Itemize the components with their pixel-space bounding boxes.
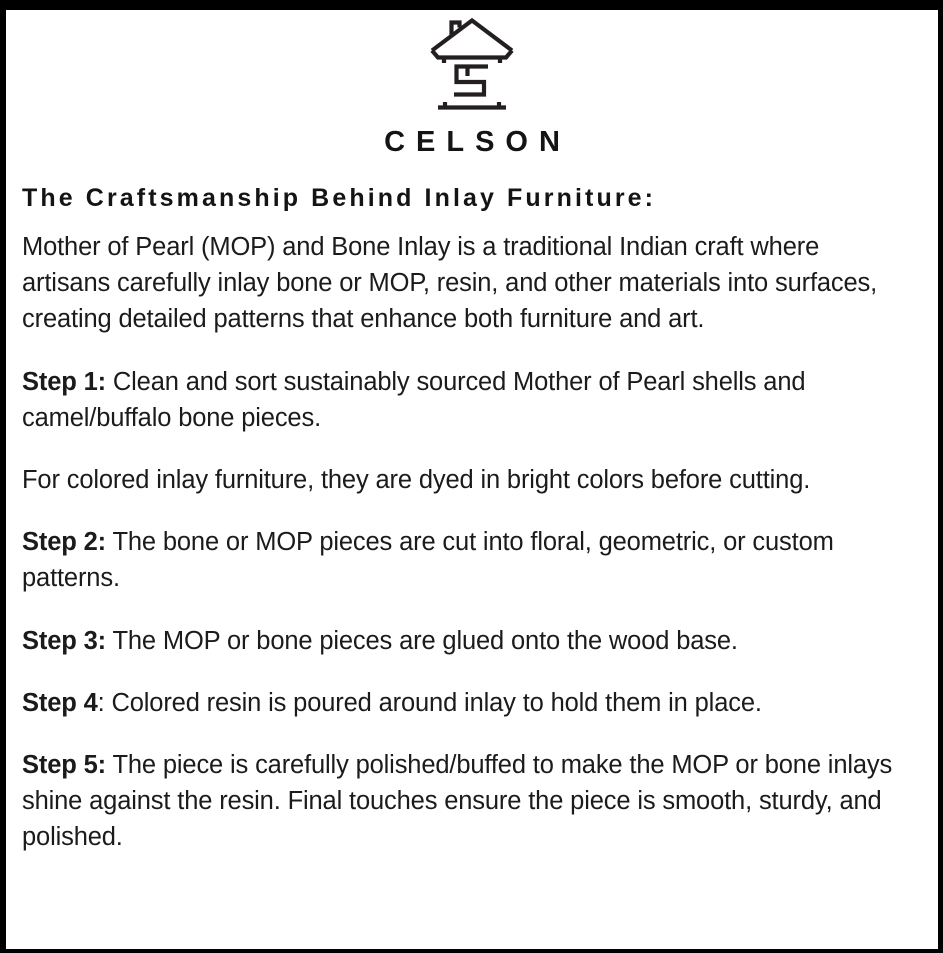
step-5-label: Step 5: xyxy=(22,751,106,779)
step-4-paragraph: Step 4: Colored resin is poured around i… xyxy=(22,685,912,721)
step-4-text: Colored resin is poured around inlay to … xyxy=(105,689,762,717)
step-2-label: Step 2: xyxy=(22,528,106,556)
step-1-text: Clean and sort sustainably sourced Mothe… xyxy=(22,368,805,432)
page-title: The Craftsmanship Behind Inlay Furniture… xyxy=(22,183,928,213)
step-1-paragraph: Step 1: Clean and sort sustainably sourc… xyxy=(22,364,912,436)
poster-content: CELSON The Craftsmanship Behind Inlay Fu… xyxy=(6,10,938,949)
step-1-label: Step 1: xyxy=(22,368,106,396)
step-2-paragraph: Step 2: The bone or MOP pieces are cut i… xyxy=(22,524,912,596)
step-4-separator: : xyxy=(98,689,105,717)
step-3-label: Step 3: xyxy=(22,627,106,655)
poster-frame: CELSON The Craftsmanship Behind Inlay Fu… xyxy=(0,0,943,953)
step-3-paragraph: Step 3: The MOP or bone pieces are glued… xyxy=(22,623,912,659)
step-5-text: The piece is carefully polished/buffed t… xyxy=(22,751,892,851)
colored-inlay-text: For colored inlay furniture, they are dy… xyxy=(22,466,810,494)
step-3-text: The MOP or bone pieces are glued onto th… xyxy=(106,627,738,655)
step-2-text: The bone or MOP pieces are cut into flor… xyxy=(22,528,834,592)
article-body: Mother of Pearl (MOP) and Bone Inlay is … xyxy=(22,213,928,856)
brand-wordmark: CELSON xyxy=(16,128,928,157)
step-4-label: Step 4 xyxy=(22,689,98,717)
intro-paragraph: Mother of Pearl (MOP) and Bone Inlay is … xyxy=(22,229,912,338)
step-5-paragraph: Step 5: The piece is carefully polished/… xyxy=(22,747,912,856)
brand-header: CELSON xyxy=(16,10,928,157)
house-monogram-logo-icon xyxy=(426,14,518,116)
colored-inlay-paragraph: For colored inlay furniture, they are dy… xyxy=(22,462,912,498)
